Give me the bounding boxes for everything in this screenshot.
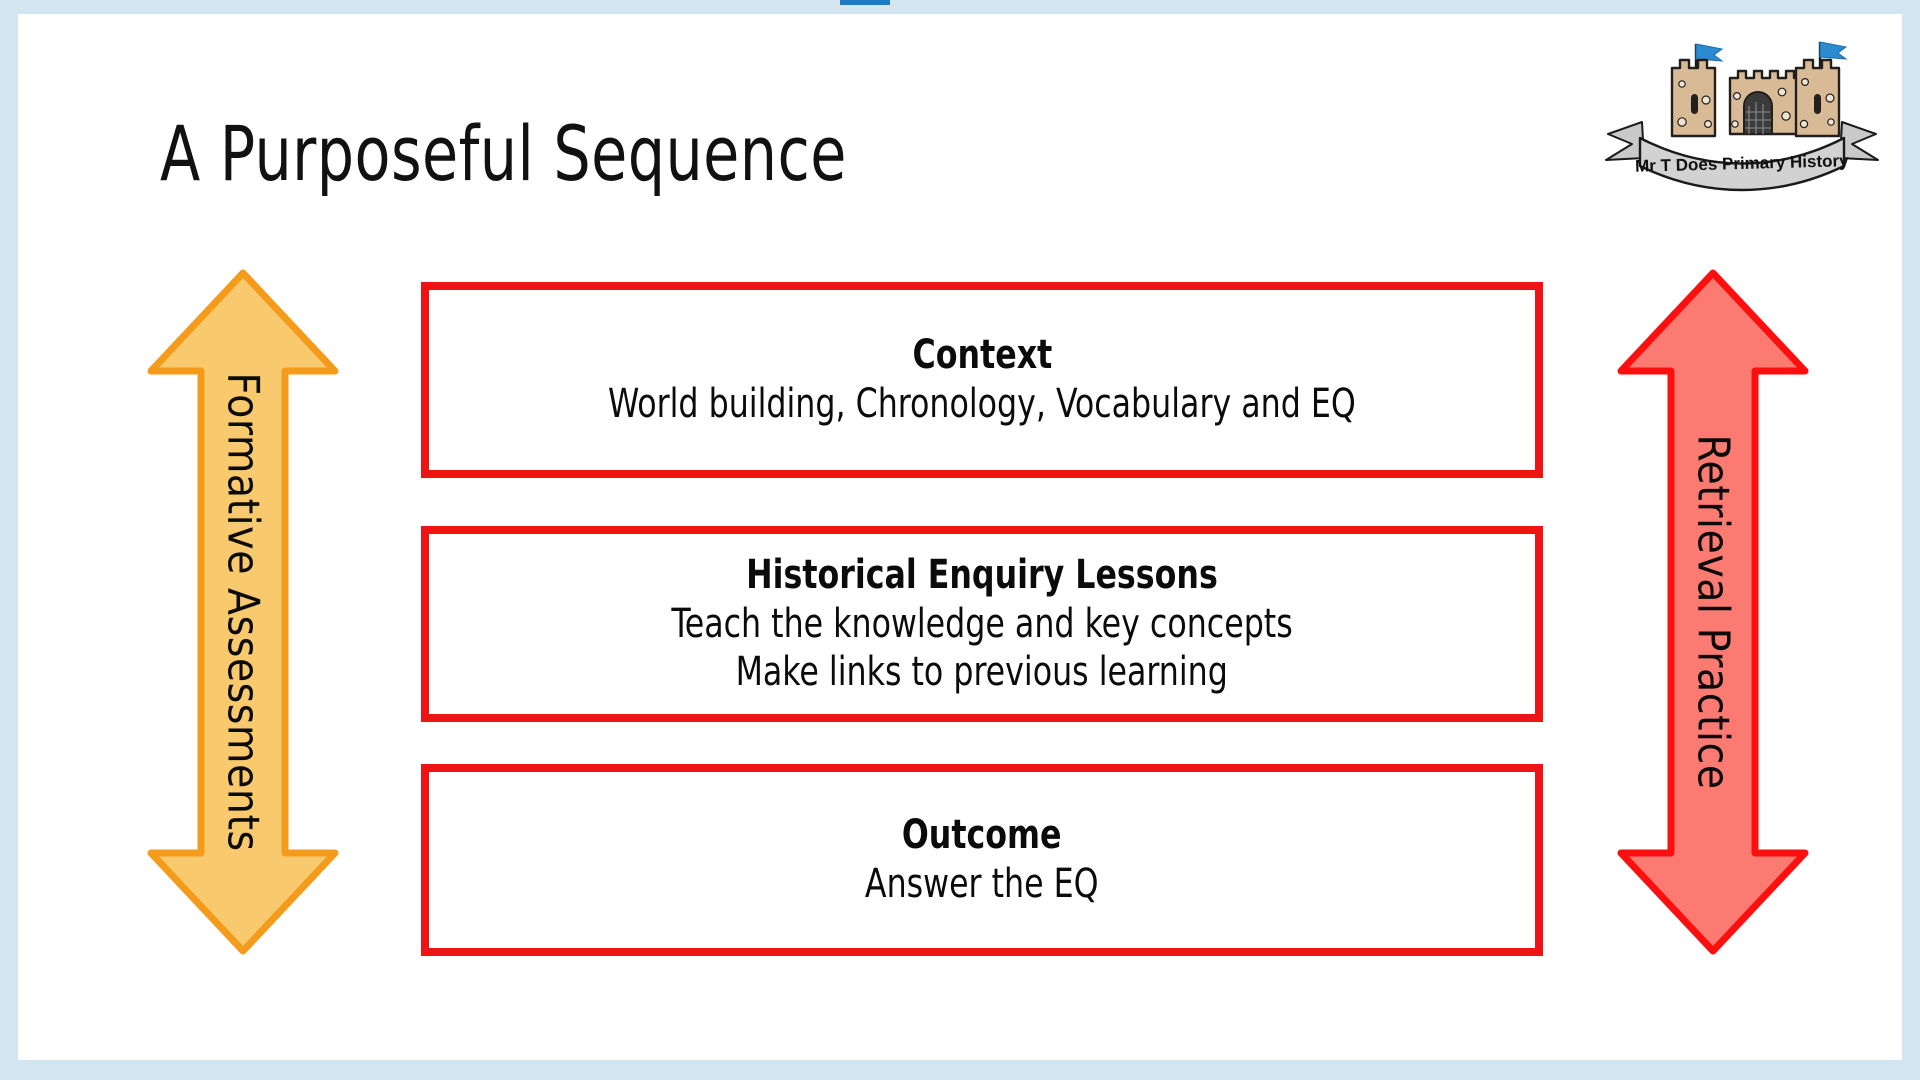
slide-viewport: A Purposeful Sequence [0, 0, 1920, 1080]
box-body-lessons-line-1: Teach the knowledge and key concepts [671, 600, 1292, 648]
top-progress-nub[interactable] [840, 0, 890, 5]
content-box-lessons[interactable]: Historical Enquiry Lessons Teach the kno… [421, 526, 1543, 722]
double-arrow-shape [1621, 273, 1805, 951]
box-heading-outcome: Outcome [902, 812, 1062, 859]
box-body-outcome: Answer the EQ [865, 860, 1099, 908]
castle-keep-icon [1730, 71, 1802, 134]
page-title: A Purposeful Sequence [160, 109, 847, 198]
ribbon-tail-left [1606, 122, 1644, 160]
castle-tower-left-icon [1672, 60, 1715, 136]
box-body-lessons-line-2: Make links to previous learning [736, 648, 1228, 696]
double-arrow-retrieval-practice[interactable]: Retrieval Practice [1613, 267, 1813, 957]
box-heading-context: Context [912, 332, 1052, 379]
box-body-context: World building, Chronology, Vocabulary a… [608, 380, 1356, 428]
double-arrow-shape [151, 273, 335, 951]
brand-logo: Mr T Does Primary History [1596, 26, 1888, 198]
double-arrow-formative-assessments[interactable]: Formative Assessments [143, 267, 343, 957]
slide-canvas: A Purposeful Sequence [18, 14, 1902, 1060]
content-box-outcome[interactable]: Outcome Answer the EQ [421, 764, 1543, 956]
box-heading-lessons: Historical Enquiry Lessons [746, 552, 1218, 599]
castle-tower-right-icon [1796, 60, 1839, 136]
content-box-context[interactable]: Context World building, Chronology, Voca… [421, 282, 1543, 478]
